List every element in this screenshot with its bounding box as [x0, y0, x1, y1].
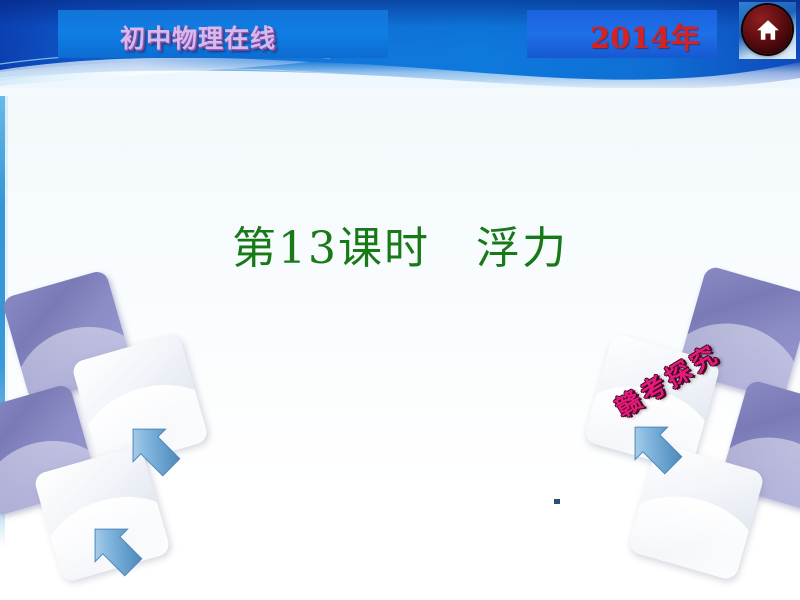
nav-arrow-right[interactable] — [618, 410, 696, 488]
page-title: 第13课时 浮力 — [0, 212, 800, 276]
stray-speck — [554, 499, 560, 504]
home-button-circle — [743, 5, 792, 54]
home-button[interactable] — [739, 2, 796, 59]
nav-arrow-upper-left[interactable] — [116, 412, 194, 490]
slide-root: 初中物理在线 2014年 第13课时 浮力 — [0, 0, 800, 600]
card-sheen — [627, 478, 766, 581]
nav-arrow-lower-left[interactable] — [78, 512, 156, 590]
header-banner: 初中物理在线 2014年 — [0, 0, 800, 96]
home-icon — [755, 17, 781, 43]
year-label: 2014年 — [590, 15, 740, 57]
site-title: 初中物理在线 — [120, 19, 380, 55]
